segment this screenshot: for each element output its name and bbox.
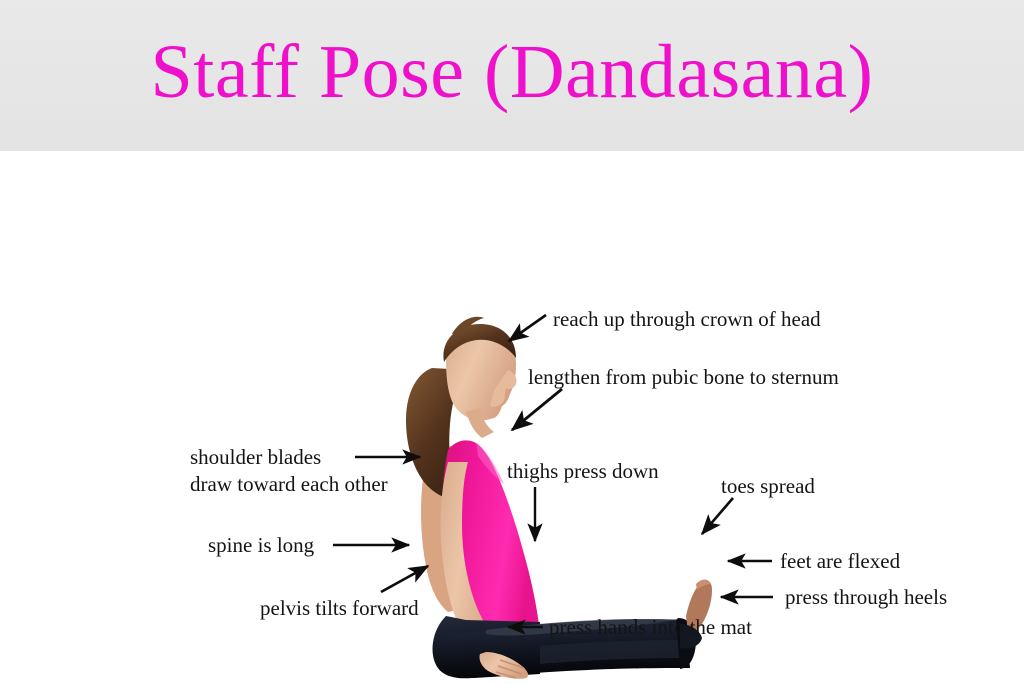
pose-infographic: Staff Pose (Dandasana) — [0, 0, 1024, 684]
annotation-toes-spread: toes spread — [721, 473, 815, 499]
annotation-press-hands-into-the-mat: press hands into the mat — [549, 614, 752, 640]
annotation-pubic-to-sternum: lengthen from pubic bone to sternum — [528, 364, 839, 390]
annotation-shoulder-blades-line1: shoulder blades — [190, 444, 321, 470]
page-title: Staff Pose (Dandasana) — [0, 24, 1024, 120]
annotation-thighs-press-down: thighs press down — [507, 458, 659, 484]
annotation-press-through-heels: press through heels — [785, 584, 947, 610]
annotation-spine-is-long: spine is long — [208, 532, 314, 558]
title-band: Staff Pose (Dandasana) — [0, 0, 1024, 151]
annotation-pelvis-tilts-forward: pelvis tilts forward — [260, 595, 419, 621]
annotation-feet-are-flexed: feet are flexed — [780, 548, 900, 574]
annotation-shoulder-blades-line2: draw toward each other — [190, 471, 388, 497]
annotation-crown-of-head: reach up through crown of head — [553, 306, 821, 332]
